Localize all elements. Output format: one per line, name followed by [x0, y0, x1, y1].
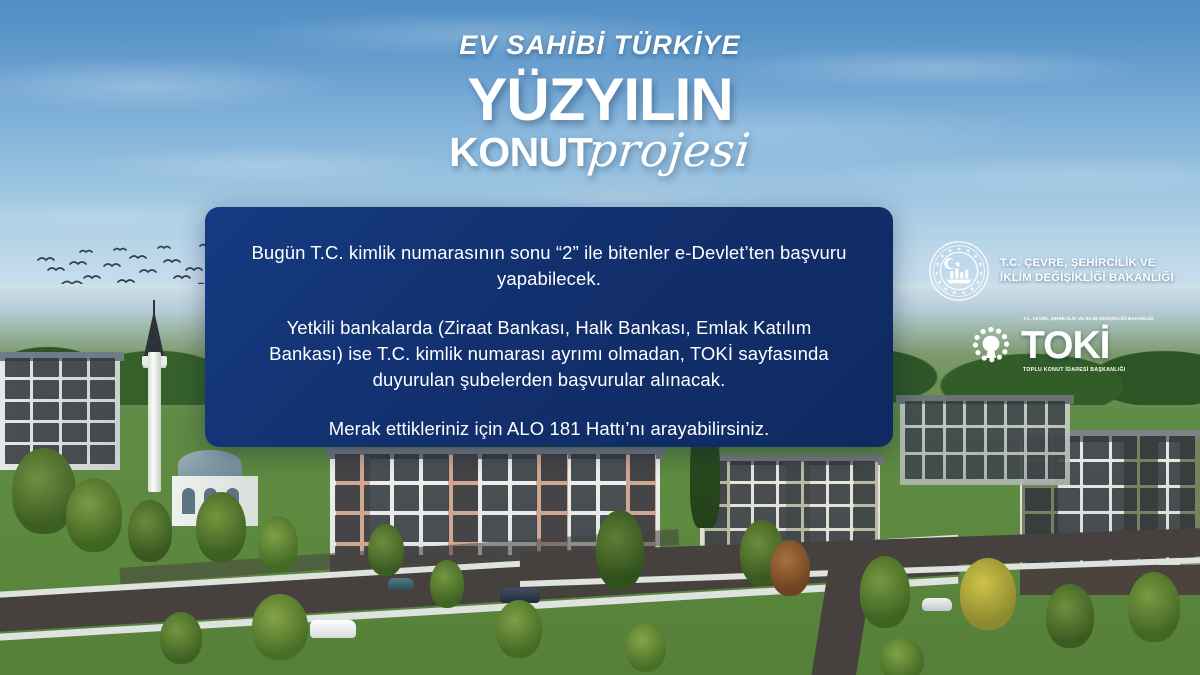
turkish-ministry-emblem-icon	[928, 240, 990, 302]
window	[335, 454, 360, 481]
window-grid	[900, 395, 1070, 485]
tree	[196, 492, 246, 562]
ministry-line-1: T.C. ÇEVRE, ŞEHİRCİLİK VE	[1000, 256, 1174, 271]
window	[946, 428, 963, 452]
tree-autumn	[770, 540, 810, 596]
window	[5, 402, 30, 421]
logo-group: T.C. ÇEVRE, ŞEHİRCİLİK VE İKLİM DEĞİŞİKL…	[928, 240, 1178, 366]
announcement-paragraph-1: Bugün T.C. kimlik numarasının sonu “2” i…	[251, 240, 847, 293]
window	[335, 485, 360, 512]
poster-subline: KONUTprojesi	[0, 127, 1200, 173]
window	[571, 454, 596, 481]
ministry-logo: T.C. ÇEVRE, ŞEHİRCİLİK VE İKLİM DEĞİŞİKL…	[928, 240, 1178, 302]
ministry-line-2: İKLİM DEĞİŞİKLİĞİ BAKANLIĞI	[1000, 271, 1174, 286]
tree	[496, 600, 542, 658]
window	[33, 380, 58, 399]
window	[482, 515, 507, 542]
window	[1140, 462, 1166, 485]
window	[1048, 455, 1065, 479]
window	[453, 485, 478, 512]
window	[423, 454, 448, 481]
window	[853, 507, 875, 527]
window	[62, 380, 87, 399]
window	[1112, 436, 1138, 459]
window	[1169, 462, 1195, 485]
tree	[860, 556, 910, 628]
window	[600, 454, 625, 481]
announcement-paragraph-3: Merak ettikleriniz için ALO 181 Hattı’nı…	[251, 416, 847, 442]
ministry-logo-text: T.C. ÇEVRE, ŞEHİRCİLİK VE İKLİM DEĞİŞİKL…	[1000, 256, 1174, 285]
window	[541, 454, 566, 481]
window	[754, 484, 776, 504]
minaret-shaft	[148, 352, 161, 492]
tree-yellow	[960, 558, 1016, 630]
window	[630, 485, 655, 512]
window	[1027, 428, 1044, 452]
toki-wordmark-wrapper: T.C. ÇEVRE, ŞEHİRCİLİK VE İKLİM DEĞİŞİKL…	[1021, 326, 1109, 365]
window	[804, 484, 826, 504]
announcement-panel: Bugün T.C. kimlik numarasının sonu “2” i…	[205, 207, 893, 447]
window	[1027, 455, 1044, 479]
window	[423, 515, 448, 542]
car-teal	[388, 578, 414, 590]
window	[1048, 401, 1065, 425]
window	[804, 507, 826, 527]
window	[987, 401, 1004, 425]
building-rear-right	[900, 395, 1070, 485]
tree	[596, 510, 644, 590]
window	[335, 515, 360, 542]
window	[33, 402, 58, 421]
window	[1140, 488, 1166, 511]
tree	[626, 622, 666, 672]
tree	[128, 500, 172, 562]
window	[90, 380, 115, 399]
window	[905, 428, 922, 452]
toki-logo: T.C. ÇEVRE, ŞEHİRCİLİK VE İKLİM DEĞİŞİKL…	[970, 324, 1178, 366]
tree	[1128, 572, 1180, 642]
window	[33, 423, 58, 442]
window	[1083, 488, 1109, 511]
poster-subline-script: projesi	[586, 127, 753, 173]
window	[5, 423, 30, 442]
window	[482, 454, 507, 481]
window	[630, 454, 655, 481]
window	[62, 358, 87, 377]
poster-root: EV SAHİBİ TÜRKİYE YÜZYILIN KONUTprojesi …	[0, 0, 1200, 675]
tree	[252, 594, 308, 660]
window	[730, 507, 752, 527]
window	[853, 461, 875, 481]
window	[423, 485, 448, 512]
window	[804, 461, 826, 481]
announcement-paragraph-2: Yetkili bankalarda (Ziraat Bankası, Halk…	[251, 315, 847, 394]
window-grid	[0, 352, 120, 470]
window	[1048, 428, 1065, 452]
window	[482, 485, 507, 512]
window	[364, 485, 389, 512]
window	[62, 423, 87, 442]
tree	[368, 524, 404, 576]
window	[987, 455, 1004, 479]
window	[600, 485, 625, 512]
window	[1027, 401, 1044, 425]
window	[730, 461, 752, 481]
tree	[160, 612, 202, 664]
minaret-cone	[144, 310, 164, 356]
window	[946, 401, 963, 425]
window	[62, 402, 87, 421]
window	[987, 428, 1004, 452]
tree	[430, 560, 464, 608]
window	[1083, 436, 1109, 459]
window	[1007, 455, 1024, 479]
car-white	[310, 620, 356, 638]
window	[754, 461, 776, 481]
toki-wordmark: TOKİ	[1021, 324, 1109, 367]
window	[512, 454, 537, 481]
window	[779, 507, 801, 527]
mosque-arch-1	[182, 488, 195, 514]
toki-top-caption: T.C. ÇEVRE, ŞEHİRCİLİK VE İKLİM DEĞİŞİKL…	[1023, 317, 1153, 321]
building-far-left	[0, 352, 120, 470]
window	[453, 454, 478, 481]
window	[33, 358, 58, 377]
window	[779, 461, 801, 481]
toki-emblem-icon	[970, 324, 1012, 366]
window	[364, 454, 389, 481]
window	[966, 428, 983, 452]
window	[1083, 462, 1109, 485]
window	[1169, 488, 1195, 511]
window	[925, 428, 942, 452]
title-block: EV SAHİBİ TÜRKİYE YÜZYILIN KONUTprojesi	[0, 32, 1200, 173]
tree	[258, 516, 298, 572]
window	[730, 484, 752, 504]
poster-headline: YÜZYILIN	[0, 71, 1200, 129]
window	[90, 358, 115, 377]
window	[905, 455, 922, 479]
window	[1007, 401, 1024, 425]
window	[779, 484, 801, 504]
window	[453, 515, 478, 542]
window	[5, 380, 30, 399]
window	[394, 485, 419, 512]
window	[905, 401, 922, 425]
window	[925, 455, 942, 479]
window	[5, 358, 30, 377]
poster-subline-bold: KONUT	[449, 129, 592, 175]
window	[946, 455, 963, 479]
window	[966, 455, 983, 479]
window	[1054, 488, 1080, 511]
window	[829, 484, 851, 504]
tree	[66, 478, 122, 552]
car-silver	[922, 598, 952, 611]
window	[829, 461, 851, 481]
window	[966, 401, 983, 425]
window	[90, 445, 115, 464]
window	[512, 485, 537, 512]
tree	[880, 638, 924, 675]
poster-kicker: EV SAHİBİ TÜRKİYE	[0, 32, 1200, 59]
window	[571, 485, 596, 512]
window	[1025, 488, 1051, 511]
window	[1169, 436, 1195, 459]
window	[90, 402, 115, 421]
window	[1007, 428, 1024, 452]
tree	[1046, 584, 1094, 648]
window	[1112, 488, 1138, 511]
window	[853, 484, 875, 504]
window	[512, 515, 537, 542]
window	[541, 485, 566, 512]
window	[829, 507, 851, 527]
window	[394, 454, 419, 481]
window	[1140, 436, 1166, 459]
toki-bottom-caption: TOPLU KONUT İDARESİ BAŞKANLIĞI	[1023, 368, 1126, 373]
window	[1112, 462, 1138, 485]
window	[90, 423, 115, 442]
window	[925, 401, 942, 425]
